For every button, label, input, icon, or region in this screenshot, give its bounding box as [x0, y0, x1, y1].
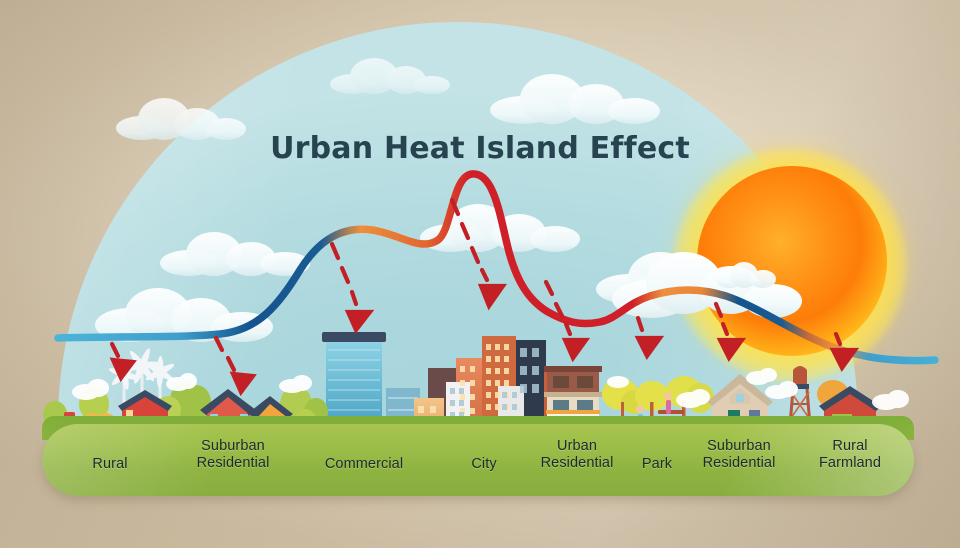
zone-label-line: Residential	[684, 455, 794, 472]
zone-label-rural-farmland: Rural Farmland	[800, 438, 900, 472]
heat-arrow-icon	[216, 338, 253, 392]
zone-label-park: Park	[622, 456, 692, 473]
zone-label-row: Rural Suburban Residential Commercial Ci…	[0, 446, 960, 506]
zone-label-suburban-residential-2: Suburban Residential	[684, 438, 794, 472]
heat-arrow-group	[112, 200, 855, 392]
zone-label-line: Residential	[522, 455, 632, 472]
heat-arrow-icon	[112, 344, 133, 378]
zone-label-line: Suburban	[684, 438, 794, 455]
zone-label-line: City	[444, 456, 524, 473]
zone-label-commercial: Commercial	[304, 456, 424, 473]
zone-label-line: Rural	[800, 438, 900, 455]
heat-arrow-icon	[332, 244, 370, 330]
zone-label-line: Urban	[522, 438, 632, 455]
zone-label-line: Park	[622, 456, 692, 473]
heat-arrow-icon	[833, 334, 855, 368]
zone-label-line: Farmland	[800, 455, 900, 472]
zone-label-city: City	[444, 456, 524, 473]
temperature-curve	[58, 174, 935, 361]
heat-arrow-icon	[452, 200, 503, 306]
zone-label-rural: Rural	[60, 456, 160, 473]
heat-arrow-icon	[638, 318, 660, 356]
zone-label-line: Suburban	[178, 438, 288, 455]
infographic-canvas: Urban Heat Island Effect	[0, 0, 960, 548]
zone-label-line: Residential	[178, 455, 288, 472]
zone-label-suburban-residential: Suburban Residential	[178, 438, 288, 472]
zone-label-urban-residential: Urban Residential	[522, 438, 632, 472]
zone-label-line: Commercial	[304, 456, 424, 473]
heat-arrow-icon	[716, 304, 742, 358]
zone-label-line: Rural	[60, 456, 160, 473]
